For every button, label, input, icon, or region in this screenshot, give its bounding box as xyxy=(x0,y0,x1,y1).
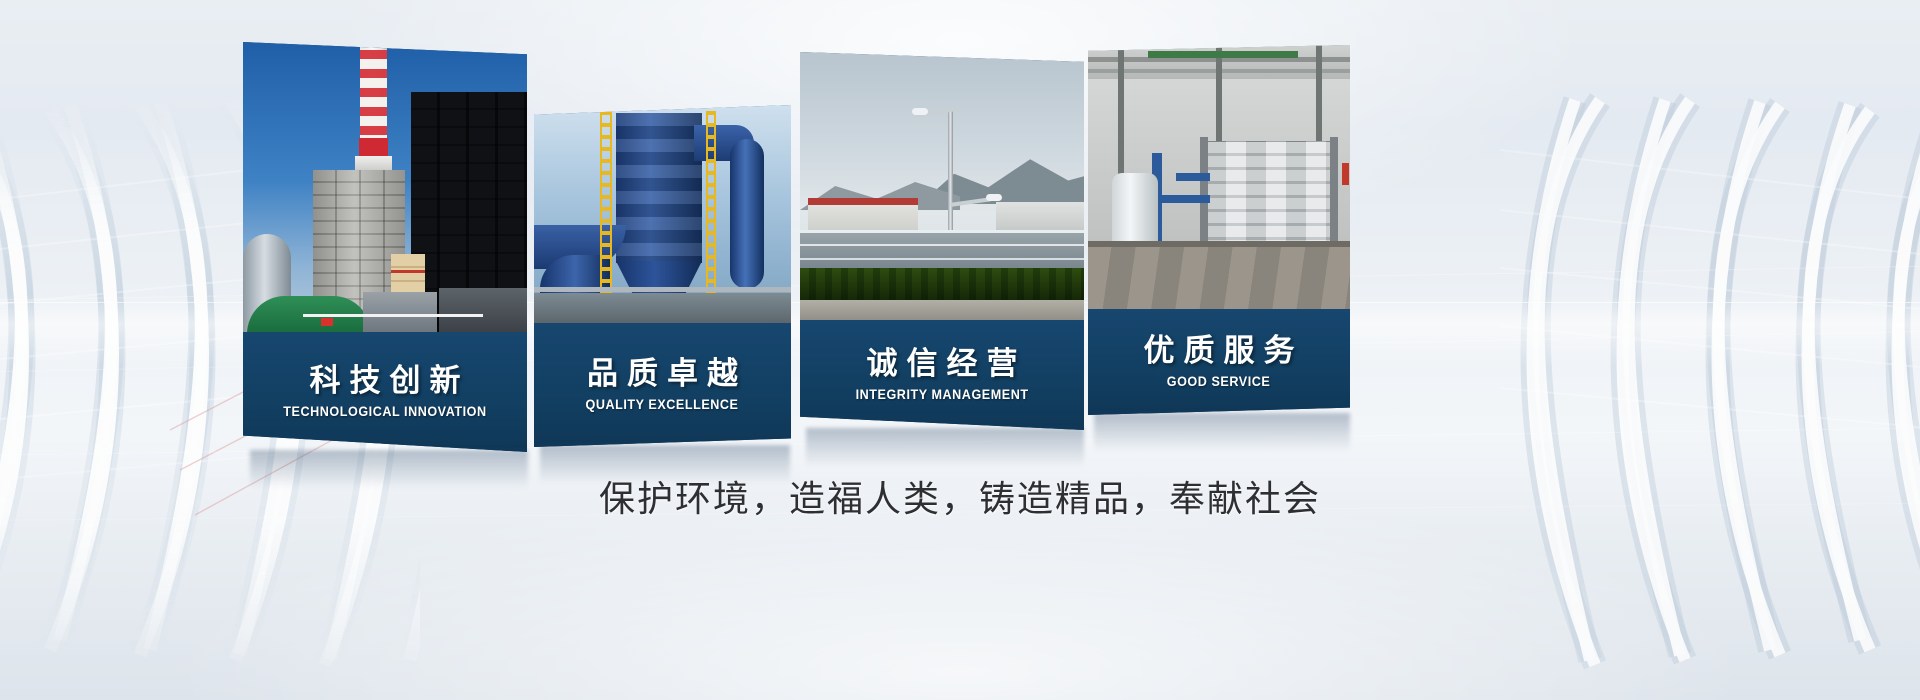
panel-good-service[interactable]: 优质服务 GOOD SERVICE xyxy=(1088,45,1350,415)
panel-integrity-management[interactable]: 诚信经营 INTEGRITY MANAGEMENT xyxy=(800,52,1084,430)
panel-caption-quality-excellence: 品质卓越 QUALITY EXCELLENCE xyxy=(534,323,791,447)
panel-title-en: TECHNOLOGICAL INNOVATION xyxy=(283,403,486,419)
panel-title-zh: 科技创新 xyxy=(301,365,470,398)
panel-caption-technological-innovation: 科技创新 TECHNOLOGICAL INNOVATION xyxy=(243,332,527,452)
panel-reflection-4 xyxy=(1094,413,1350,465)
tagline: 保护环境，造福人类，铸造精品，奉献社会 xyxy=(0,470,1920,522)
panel-photo-quality-excellence xyxy=(534,105,791,323)
panel-technological-innovation[interactable]: 科技创新 TECHNOLOGICAL INNOVATION xyxy=(243,42,527,452)
panel-photo-technological-innovation xyxy=(243,42,527,332)
panel-quality-excellence[interactable]: 品质卓越 QUALITY EXCELLENCE xyxy=(534,105,791,447)
panel-caption-integrity-management: 诚信经营 INTEGRITY MANAGEMENT xyxy=(800,320,1084,430)
panel-title-en: GOOD SERVICE xyxy=(1167,373,1271,389)
company-banner: 科技创新 TECHNOLOGICAL INNOVATION xyxy=(0,0,1920,700)
panel-caption-good-service: 优质服务 GOOD SERVICE xyxy=(1088,309,1350,415)
panel-title-en: INTEGRITY MANAGEMENT xyxy=(856,386,1029,402)
panel-photo-good-service xyxy=(1088,45,1350,309)
panel-title-zh: 品质卓越 xyxy=(578,358,747,391)
panel-title-zh: 优质服务 xyxy=(1135,335,1304,368)
panel-title-en: QUALITY EXCELLENCE xyxy=(586,396,739,412)
panel-photo-integrity-management xyxy=(800,52,1084,320)
panel-title-zh: 诚信经营 xyxy=(858,348,1027,381)
